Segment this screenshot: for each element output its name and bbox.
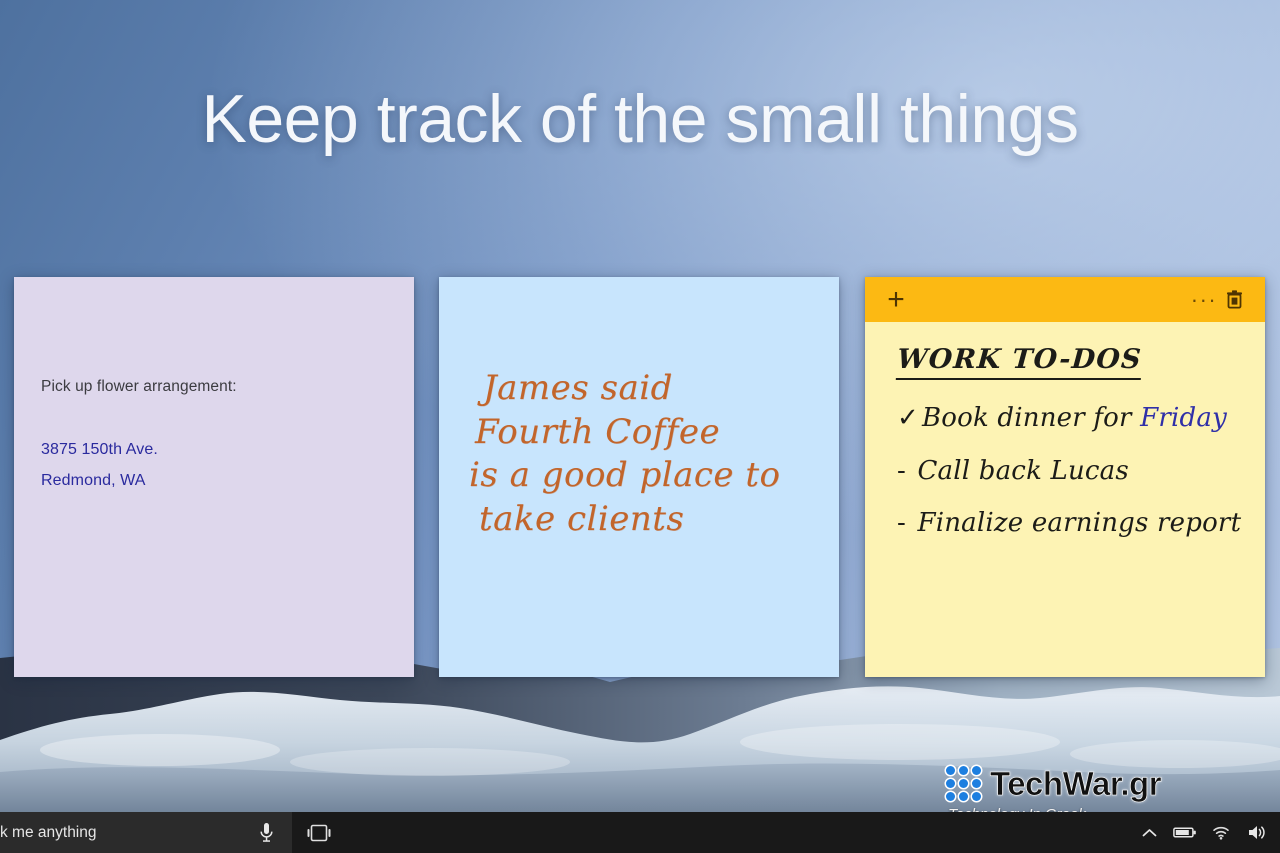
todo-text: Book dinner for	[922, 403, 1140, 433]
note-purple-address: 3875 150th Ave. Redmond, WA	[41, 435, 414, 496]
note-purple-title: Pick up flower arrangement:	[41, 377, 414, 397]
note-blue-line-2: Fourth Coffee	[475, 411, 839, 455]
search-input[interactable]: k me anything	[0, 812, 240, 853]
wifi-button[interactable]	[1204, 812, 1238, 853]
ellipsis-icon: ···	[1191, 293, 1217, 306]
sticky-note-toolbar: + ···	[865, 277, 1265, 322]
delete-note-button[interactable]	[1219, 285, 1249, 315]
todo-marker-dash: -	[897, 456, 906, 486]
note-blue-handwriting: James said Fourth Coffee is a good place…	[469, 367, 839, 541]
sticky-note-purple[interactable]: Pick up flower arrangement: 3875 150th A…	[14, 277, 414, 677]
trash-icon	[1226, 290, 1243, 309]
note-purple-address-line-1: 3875 150th Ave.	[41, 435, 414, 466]
note-blue-line-1: James said	[483, 367, 839, 411]
add-note-button[interactable]: +	[881, 285, 911, 315]
more-options-button[interactable]: ···	[1189, 285, 1219, 315]
microphone-icon	[259, 822, 274, 843]
volume-button[interactable]	[1240, 812, 1274, 853]
todo-marker-check: ✓	[897, 403, 919, 433]
microphone-button[interactable]	[240, 812, 292, 853]
task-view-icon	[306, 824, 332, 842]
battery-button[interactable]	[1168, 812, 1202, 853]
battery-icon	[1173, 826, 1197, 839]
show-hidden-icons-button[interactable]	[1132, 812, 1166, 853]
volume-icon	[1247, 824, 1267, 841]
todo-item[interactable]: - Call back Lucas	[897, 457, 1265, 486]
sticky-note-blue[interactable]: James said Fourth Coffee is a good place…	[439, 277, 839, 677]
note-yellow-content: WORK TO-DOS ✓Book dinner for Friday - Ca…	[897, 344, 1265, 538]
search-placeholder-text: k me anything	[0, 824, 97, 842]
todo-item[interactable]: ✓Book dinner for Friday	[897, 404, 1265, 433]
system-tray	[1132, 812, 1280, 853]
todo-list-title: WORK TO-DOS	[896, 344, 1143, 380]
todo-text: Call back Lucas	[917, 456, 1128, 486]
sticky-note-yellow-body: WORK TO-DOS ✓Book dinner for Friday - Ca…	[865, 322, 1265, 538]
todo-marker-dash: -	[897, 508, 906, 538]
todo-text: Finalize earnings report	[917, 508, 1241, 538]
page-title: Keep track of the small things	[0, 80, 1280, 158]
desktop-wallpaper: Keep track of the small things Pick up f…	[0, 0, 1280, 812]
plus-icon: +	[887, 285, 905, 315]
sticky-note-yellow[interactable]: + ··· WORK TO-DOS ✓Book dinner for Frida…	[865, 277, 1265, 677]
note-purple-address-line-2: Redmond, WA	[41, 466, 414, 497]
note-blue-line-3: is a good place to	[469, 454, 839, 498]
task-view-button[interactable]	[292, 812, 346, 853]
todo-text-accent: Friday	[1140, 403, 1227, 433]
note-blue-line-4: take clients	[479, 498, 839, 542]
wifi-icon	[1212, 825, 1230, 840]
taskbar: k me anything	[0, 812, 1280, 853]
todo-item[interactable]: - Finalize earnings report	[897, 509, 1265, 538]
chevron-up-icon	[1142, 828, 1157, 838]
